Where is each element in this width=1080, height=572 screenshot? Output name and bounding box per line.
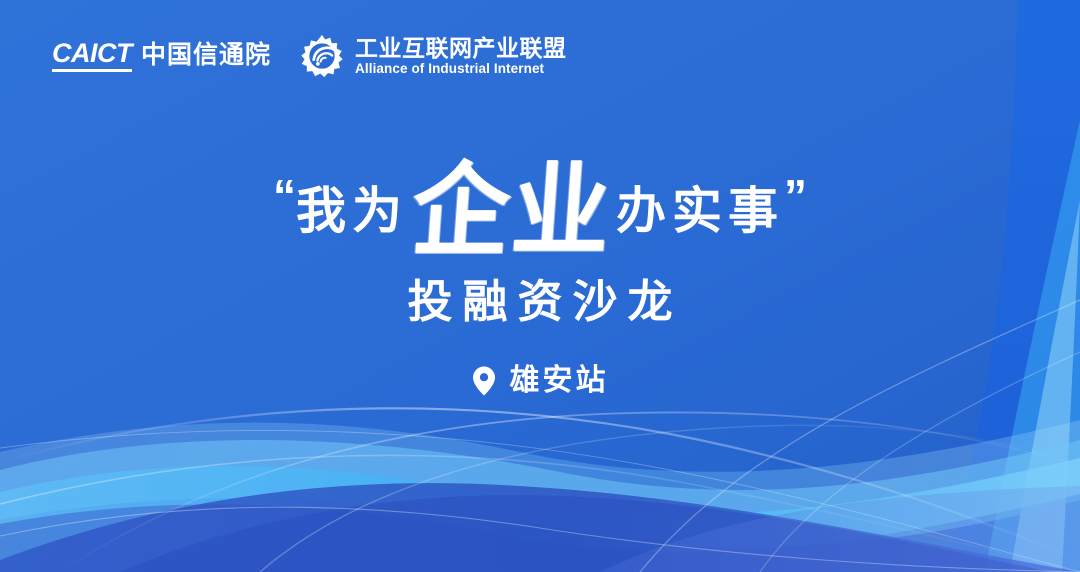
location-label: 雄安站 xyxy=(510,366,609,396)
caict-logo: CAICT 中国信通院 xyxy=(52,40,271,72)
subtitle: 投融资沙龙 xyxy=(0,279,1080,324)
location-line: 雄安站 xyxy=(0,366,1080,396)
event-poster: CAICT 中国信通院 工业互联网产业联盟 Alliance of Indust… xyxy=(0,0,1080,572)
alliance-text: 工业互联网产业联盟 Alliance of Industrial Interne… xyxy=(355,36,567,76)
title-tail-text: 办实事 xyxy=(616,186,784,236)
main-title: “ 我为 企业 办实事 ” xyxy=(0,163,1080,259)
alliance-chinese-name: 工业互联网产业联盟 xyxy=(355,36,567,60)
caict-underline-rule xyxy=(52,69,132,72)
open-quote-mark: “ xyxy=(273,173,296,219)
alliance-logo: 工业互联网产业联盟 Alliance of Industrial Interne… xyxy=(299,33,567,79)
map-pin-icon xyxy=(472,366,496,396)
caict-chinese-name: 中国信通院 xyxy=(141,43,271,72)
title-lead-text: 我为 xyxy=(296,186,408,236)
close-quote-mark: ” xyxy=(784,173,807,219)
title-emphasis-text: 企业 xyxy=(402,160,621,262)
gear-swirl-icon xyxy=(299,33,345,79)
alliance-english-name: Alliance of Industrial Internet xyxy=(355,62,567,76)
caict-acronym: CAICT xyxy=(52,40,132,67)
header-logos: CAICT 中国信通院 工业互联网产业联盟 Alliance of Indust… xyxy=(52,33,567,79)
caict-wordmark: CAICT xyxy=(52,40,132,72)
